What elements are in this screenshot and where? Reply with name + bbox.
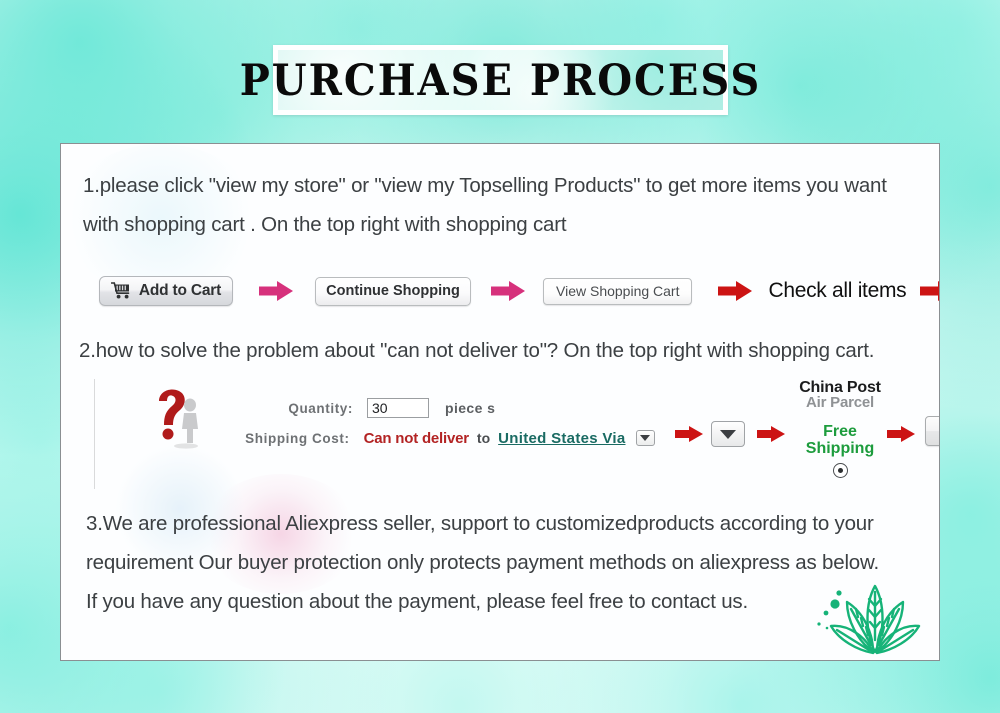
continue-shopping-button[interactable]: Continue Shopping <box>315 277 471 306</box>
add-to-cart-label: Add to Cart <box>139 282 221 300</box>
step3-line-2: requirement Our buyer protection only pr… <box>86 543 879 582</box>
step2-paragraph: 2.how to solve the problem about "can no… <box>79 331 874 370</box>
chevron-down-icon <box>640 435 650 441</box>
shipping-method-block: China Post Air Parcel Free Shipping <box>785 379 895 478</box>
page-title-plate: PURCHASE PROCESS <box>273 45 728 115</box>
chevron-down-icon-large <box>720 430 736 439</box>
arrow-right-red-4 <box>757 425 785 443</box>
page-title: PURCHASE PROCESS <box>240 55 762 106</box>
free-shipping-block: Free Shipping <box>785 423 895 457</box>
step1-line-1: 1.please click "view my store" or "view … <box>83 166 887 205</box>
quantity-label: Quantity: <box>235 401 353 416</box>
view-shopping-cart-button[interactable]: View Shopping Cart <box>543 278 692 305</box>
step3-paragraph: 3.We are professional Aliexpress seller,… <box>86 504 879 621</box>
arrow-right-red-3 <box>675 425 703 443</box>
view-shopping-cart-label: View Shopping Cart <box>556 283 679 299</box>
purchase-flow-row: Add to Cart Continue Shopping View Shopp… <box>99 270 927 312</box>
step1-line-2: with shopping cart . On the top right wi… <box>83 205 887 244</box>
quantity-unit-label: piece s <box>445 400 495 416</box>
step3-line-1: 3.We are professional Aliexpress seller,… <box>86 504 879 543</box>
arrow-right-red-2 <box>920 280 940 302</box>
shopping-cart-icon <box>111 282 133 300</box>
free-shipping-line-1: Free <box>785 423 895 440</box>
country-dropdown-button[interactable] <box>636 430 655 446</box>
country-select-link[interactable]: United States Via <box>498 430 625 447</box>
free-shipping-line-2: Shipping <box>785 440 895 457</box>
shipping-widget: Quantity: piece s Shipping Cost: Can not… <box>94 379 935 489</box>
quantity-row: Quantity: piece s <box>235 393 655 423</box>
leaf-plant-icon <box>813 562 933 658</box>
shipping-fields: Quantity: piece s Shipping Cost: Can not… <box>235 393 655 453</box>
check-all-items-label: Check all items <box>768 279 906 303</box>
question-mark-icon <box>153 385 211 451</box>
arrow-right-red-5 <box>887 425 915 443</box>
step1-paragraph: 1.please click "view my store" or "view … <box>83 166 887 244</box>
shipping-cost-label: Shipping Cost: <box>235 431 350 446</box>
arrow-right-red-1 <box>718 280 752 302</box>
shipping-cost-row: Shipping Cost: Can not deliver to United… <box>235 423 655 453</box>
shipping-method-dropdown-button[interactable] <box>711 421 745 447</box>
ok-button[interactable]: OK <box>925 416 940 446</box>
add-to-cart-button[interactable]: Add to Cart <box>99 276 233 306</box>
quantity-input[interactable] <box>367 398 429 418</box>
step3-line-3: If you have any question about the payme… <box>86 582 879 621</box>
deliver-to-text: to <box>477 430 490 446</box>
content-panel: 1.please click "view my store" or "view … <box>60 143 940 661</box>
arrow-right-pink-1 <box>259 280 293 302</box>
step2-line-1: 2.how to solve the problem about "can no… <box>79 331 874 370</box>
cannot-deliver-text: Can not deliver <box>364 430 469 447</box>
arrow-right-pink-2 <box>491 280 525 302</box>
radio-selected-icon[interactable] <box>833 463 848 478</box>
continue-shopping-label: Continue Shopping <box>326 283 460 299</box>
